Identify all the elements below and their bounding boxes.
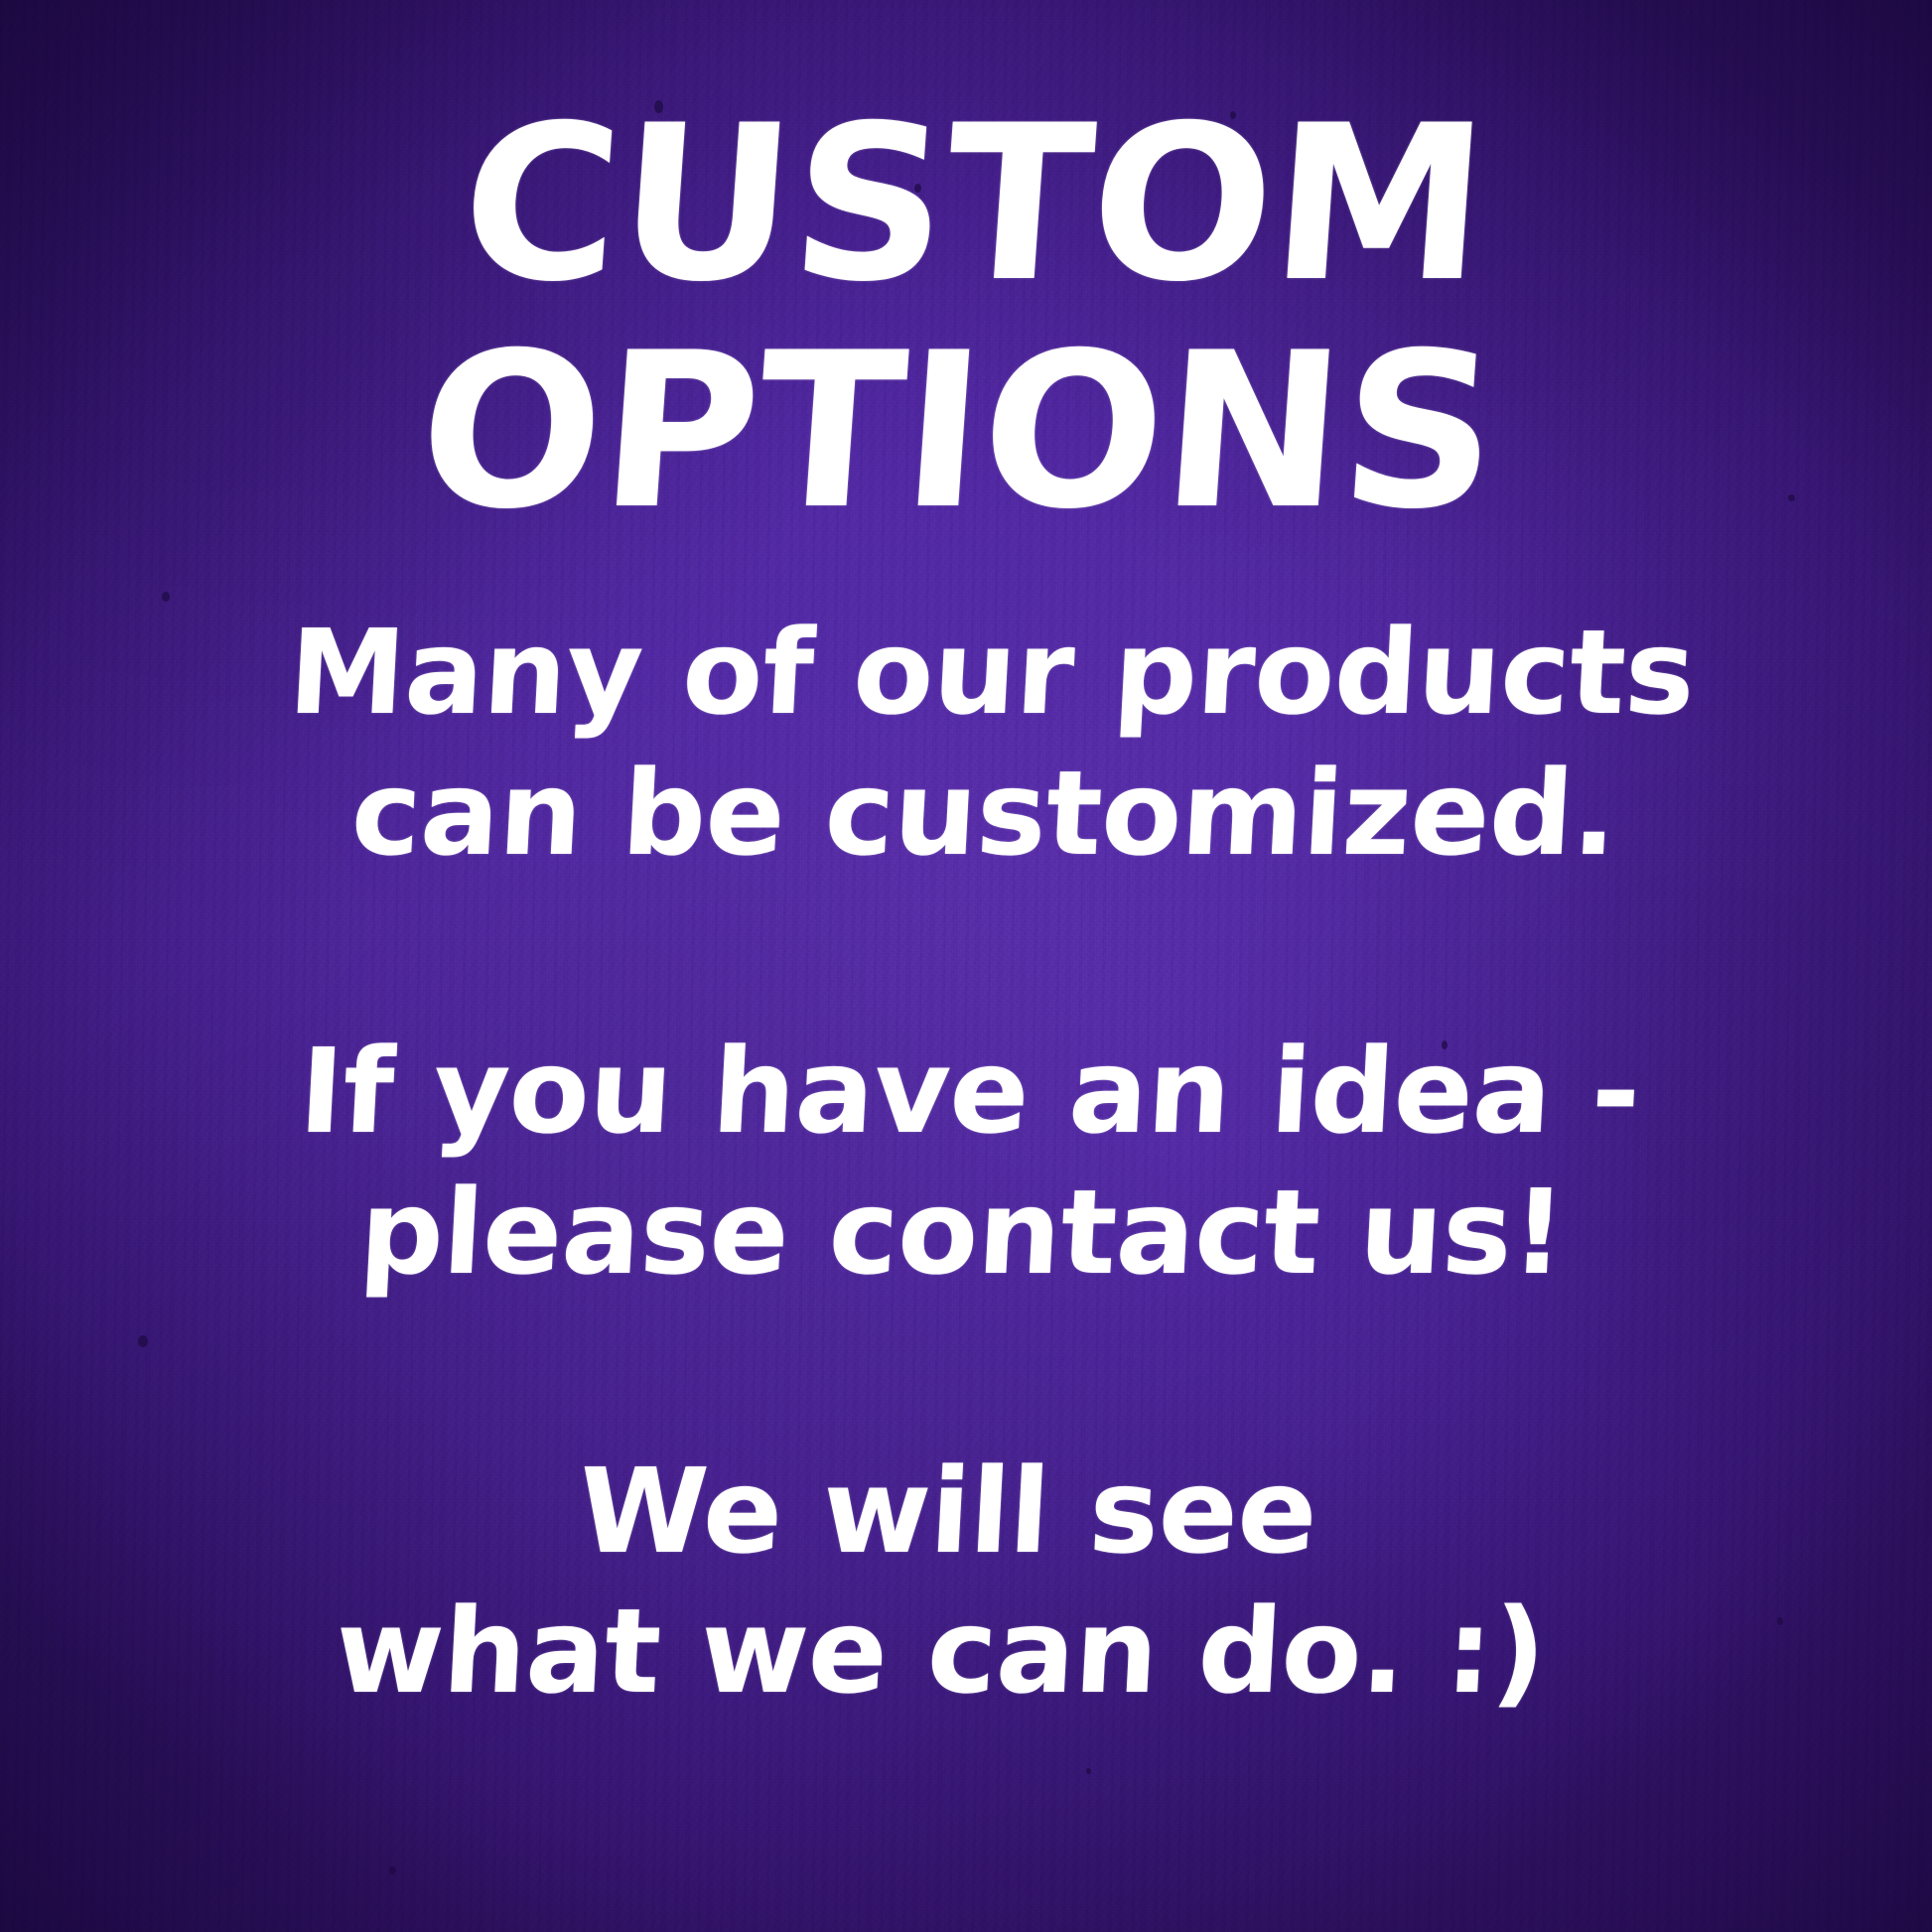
paragraph-customization-note: Many of our products can be customized. [15, 603, 1932, 884]
title-line-1: CUSTOM [0, 91, 1932, 319]
body-line: We will see [0, 1442, 1917, 1583]
custom-options-poster: CUSTOM OPTIONS Many of our products can … [0, 0, 1932, 1932]
page-title: CUSTOM OPTIONS [0, 91, 1932, 546]
title-line-2: OPTIONS [0, 319, 1932, 546]
body-line: Many of our products [22, 603, 1932, 744]
body-line: what we can do. :) [0, 1582, 1910, 1723]
body-line: please contact us! [0, 1163, 1932, 1304]
body-line: can be customized. [15, 744, 1932, 885]
paragraph-closing-note: We will see what we can do. :) [0, 1442, 1917, 1723]
body-line: If you have an idea - [0, 1022, 1932, 1163]
poster-content: CUSTOM OPTIONS Many of our products can … [0, 0, 1932, 1932]
poster-body: Many of our products can be customized. … [0, 603, 1932, 1723]
paragraph-contact-invite: If you have an idea - please contact us! [0, 1022, 1932, 1303]
